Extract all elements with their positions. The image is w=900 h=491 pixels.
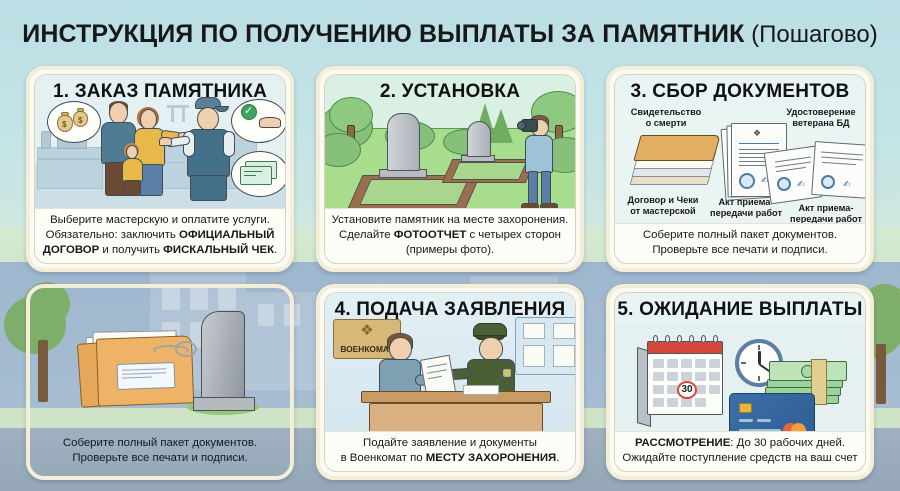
step-card-1[interactable]: 1. ЗАКАЗ ПАМЯТНИКА $ (26, 66, 294, 272)
grave-plot-inner (451, 162, 527, 180)
doc-label-acceptance-act: Акт приема- передачи работ (783, 203, 865, 223)
card-number-line (757, 419, 771, 422)
documents-recap-inner: Соберите полный пакет документов. Провер… (34, 292, 286, 472)
photographer-shoe (540, 203, 558, 208)
paper-clip-icon (153, 345, 189, 355)
clock-hour-hand (758, 351, 761, 364)
step-card-1-inner: 1. ЗАКАЗ ПАМЯТНИКА $ (34, 74, 286, 264)
step-2-illustration: 2. УСТАНОВКА (325, 75, 575, 208)
calendar-cell (709, 372, 720, 381)
reception-desk-body (369, 403, 543, 431)
dollar-sign: $ (62, 120, 66, 129)
calendar-cell (667, 372, 678, 381)
child-body (122, 158, 143, 182)
step-1-caption-line: Выберите мастерскую и оплатите услуги. (40, 213, 280, 228)
page-title: ИНСТРУКЦИЯ ПО ПОЛУЧЕНИЮ ВЫПЛАТЫ ЗА ПАМЯТ… (0, 20, 900, 60)
photographer-shoe (521, 203, 539, 208)
step-1-title: 1. ЗАКАЗ ПАМЯТНИКА (35, 75, 285, 105)
step-5-caption: РАССМОТРЕНИЕ: До 30 рабочих дней. Ожидай… (615, 431, 865, 471)
calendar-cell (681, 398, 692, 407)
worker-shirt (223, 131, 235, 157)
step-4-title: 4. ПОДАЧА ЗАЯВЛЕНИЯ (325, 293, 575, 323)
calendar-cell (681, 372, 692, 381)
calendar-ring (713, 335, 718, 343)
document-folder-icon (633, 135, 720, 161)
calendar-cell (709, 359, 720, 368)
officer-insignia (503, 369, 511, 377)
step-card-2-inner: 2. УСТАНОВКА (324, 74, 576, 264)
wrench-tool-icon (182, 108, 185, 122)
step-3-caption-line: Проверьте все печати и подписи. (620, 243, 860, 258)
step-3-title: 3. СБОР ДОКУМЕНТОВ (615, 75, 865, 105)
calendar-ring (677, 335, 682, 343)
check-mark-icon: ✓ (244, 106, 253, 117)
step-card-documents-recap[interactable]: Соберите полный пакет документов. Провер… (26, 284, 294, 480)
step-card-5-inner: 5. ОЖИДАНИЕ ВЫПЛАТЫ (614, 292, 866, 472)
step-2-caption-line: Установите памятник на месте захоронения… (330, 213, 570, 228)
cheque-line (244, 175, 256, 176)
open-hand-icon (259, 117, 281, 128)
document-line (739, 143, 779, 144)
step-card-4-inner: 4. ПОДАЧА ЗАЯВЛЕНИЯ ❖ ВОЕНКОМАТ (324, 292, 576, 472)
calendar-cell (653, 385, 664, 394)
step-3-caption-line: Соберите полный пакет документов. (620, 228, 860, 243)
step-card-4[interactable]: 4. ПОДАЧА ЗАЯВЛЕНИЯ ❖ ВОЕНКОМАТ (316, 284, 584, 480)
monument-stone (387, 113, 420, 171)
step-3-caption: Соберите полный пакет документов. Провер… (615, 223, 865, 263)
notice-sheet (523, 345, 545, 367)
documents-recap-caption: Соберите полный пакет документов. Провер… (35, 432, 285, 471)
signature-mark: ✍ (843, 179, 851, 190)
photographer-body (525, 135, 553, 173)
camera-lens-icon (517, 121, 526, 130)
father-head (109, 102, 128, 124)
step-card-5[interactable]: 5. ОЖИДАНИЕ ВЫПЛАТЫ (606, 284, 874, 480)
card-number-line (739, 429, 781, 431)
calendar-cell (653, 398, 664, 407)
officer-head (479, 337, 503, 361)
step-3-illustration: Свидетельство о смерти Удостоверение вет… (615, 105, 865, 223)
calendar-cell (695, 372, 706, 381)
step-4-caption-line: Подайте заявление и документы (330, 436, 570, 451)
page-title-sub: (Пошагово) (744, 21, 877, 48)
veteran-id-right-page (811, 141, 865, 199)
clock-tick (741, 362, 746, 364)
calendar-cell (653, 372, 664, 381)
card-chip-icon (739, 403, 752, 413)
step-1-caption-line: ДОГОВОР и получить ФИСКАЛЬНЫЙ ЧЕК. (40, 243, 280, 258)
money-bag-tie (61, 112, 69, 116)
workshop-counter (37, 159, 103, 189)
worker-legs (190, 175, 227, 201)
notice-sheet (553, 323, 575, 339)
calendar-ring (665, 335, 670, 343)
official-seal-icon (739, 173, 755, 189)
child-head (126, 145, 138, 159)
step-1-caption: Выберите мастерскую и оплатите услуги. О… (35, 208, 285, 263)
conifer-tree (489, 109, 513, 143)
step-2-caption-line: Сделайте ФОТООТЧЕТ с четырех сторон (330, 228, 570, 243)
calendar-ring (701, 335, 706, 343)
step-card-3[interactable]: 3. СБОР ДОКУМЕНТОВ Свидетельство о смерт… (606, 66, 874, 272)
calendar-cell (653, 359, 664, 368)
card-logo-icon (791, 423, 806, 431)
monument-stone (201, 311, 245, 399)
official-seal-icon (821, 175, 835, 189)
step-4-illustration: 4. ПОДАЧА ЗАЯВЛЕНИЯ ❖ ВОЕНКОМАТ (325, 293, 575, 431)
worker-head (197, 107, 219, 131)
step-2-caption-line: (примеры фото). (330, 243, 570, 258)
calendar-ring (689, 335, 694, 343)
doc-label-death-certificate: Свидетельство о смерти (619, 107, 713, 129)
step-5-caption-line: Ожидайте поступление средств на ваш счет (620, 451, 860, 466)
display-monument (41, 131, 51, 149)
cheque-line (244, 171, 262, 172)
calendar-cell (681, 359, 692, 368)
card-number-line (739, 419, 753, 422)
step-card-3-inner: 3. СБОР ДОКУМЕНТОВ Свидетельство о смерт… (614, 74, 866, 264)
monument-stone (467, 121, 491, 157)
clock-tick (758, 376, 760, 381)
monument-base (193, 397, 255, 411)
child-legs (124, 180, 141, 196)
step-2-caption: Установите памятник на месте захоронения… (325, 208, 575, 263)
step-2-title: 2. УСТАНОВКА (325, 75, 575, 105)
documents-recap-caption-line: Проверьте все печати и подписи. (40, 451, 280, 466)
documents-recap-illustration (35, 293, 285, 432)
money-bag-tie (77, 108, 84, 112)
step-5-illustration: 30 (615, 323, 865, 431)
doc-label-contract-receipts: Договор и Чеки от мастерской (617, 195, 709, 217)
step-card-grid: 1. ЗАКАЗ ПАМЯТНИКА $ (0, 0, 900, 491)
coat-of-arms-icon: ❖ (753, 129, 761, 138)
photographer-legs (541, 171, 551, 207)
calendar-highlighted-day: 30 (677, 381, 697, 399)
step-1-illustration: 1. ЗАКАЗ ПАМЯТНИКА $ (35, 75, 285, 208)
calendar-cell (667, 359, 678, 368)
calendar-cell (695, 359, 706, 368)
calendar-cell (695, 398, 706, 407)
worker-hand (159, 137, 172, 146)
step-1-caption-line: Обязательно: заключить ОФИЦИАЛЬНЫЙ (40, 228, 280, 243)
notice-sheet (553, 345, 575, 367)
document-line (739, 149, 779, 150)
citizen-head (389, 337, 412, 361)
documents-recap-caption-line: Соберите полный пакет документов. (40, 436, 280, 451)
notice-sheet (523, 323, 545, 339)
photographer-legs (528, 171, 538, 207)
step-5-caption-line: РАССМОТРЕНИЕ: До 30 рабочих дней. (620, 436, 860, 451)
desk-paper (463, 385, 499, 395)
step-5-title: 5. ОЖИДАНИЕ ВЫПЛАТЫ (615, 293, 865, 323)
step-4-caption-line: в Военкомат по МЕСТУ ЗАХОРОНЕНИЯ. (330, 451, 570, 466)
mother-head (140, 109, 157, 130)
step-card-2[interactable]: 2. УСТАНОВКА (316, 66, 584, 272)
step-4-caption: Подайте заявление и документы в Военкома… (325, 431, 575, 471)
signature-mark: ✍ (797, 179, 805, 190)
clock-tick (758, 345, 760, 350)
dollar-sign: $ (78, 116, 82, 125)
reception-desk-top (361, 391, 551, 403)
calendar-cell (709, 385, 720, 394)
calendar-ring (653, 335, 658, 343)
calendar-cell (667, 398, 678, 407)
page-title-main: ИНСТРУКЦИЯ ПО ПОЛУЧЕНИЮ ВЫПЛАТЫ ЗА ПАМЯТ… (22, 20, 744, 48)
wrench-tool-icon (171, 108, 174, 122)
official-seal-icon (777, 177, 791, 191)
